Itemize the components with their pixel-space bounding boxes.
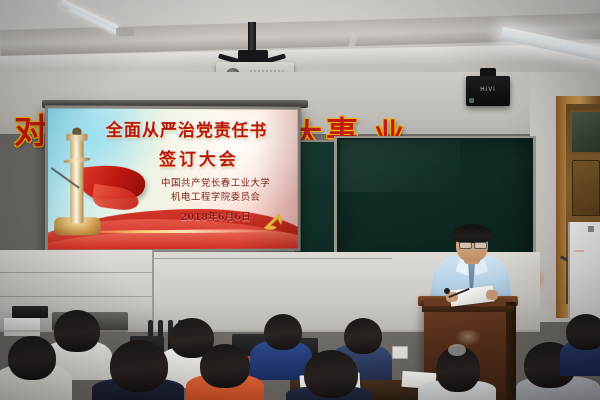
glasses-icon: [474, 242, 487, 249]
attendee-head: [566, 314, 600, 350]
whiteboard-clip: [588, 226, 594, 232]
attendee-head: [110, 340, 168, 392]
attendee-head: [304, 350, 358, 398]
ceiling-vent: [116, 28, 134, 36]
blackboard-glare: [340, 140, 460, 192]
attendee-head: [264, 314, 302, 350]
presenter-hair: [453, 224, 491, 243]
projection-screen: 全面从严治党责任书 签订大会 中国共产党长春工业大学 机电工程学院委员会 201…: [45, 105, 301, 252]
hair-tie-icon: [448, 344, 466, 356]
presentation-slide: 全面从严治党责任书 签订大会 中国共产党长春工业大学 机电工程学院委员会 201…: [48, 108, 298, 249]
slide-org-name: 中国共产党长春工业大学 机电工程学院委员会: [141, 177, 290, 205]
slide-org-line2: 机电工程学院委员会: [141, 191, 290, 205]
door-panel: [572, 160, 600, 216]
wall-banner-char-left: 对: [14, 104, 48, 153]
glasses-icon: [459, 242, 472, 249]
wall-speaker: HiVi: [466, 76, 510, 106]
attendee-head: [54, 310, 100, 352]
attendee-head: [8, 336, 56, 380]
huabiao-beast-icon: [72, 128, 81, 135]
wall-seam: [152, 258, 392, 259]
speaker-led-icon: [469, 98, 474, 103]
attendee-head: [200, 344, 250, 388]
speaker-brand-label: HiVi: [466, 87, 510, 93]
slide-title-line2: 签订大会: [109, 145, 288, 170]
slide-org-line1: 中国共产党长春工业大学: [141, 177, 290, 191]
microphone-icon: [444, 288, 450, 294]
audience-area: [0, 300, 600, 400]
attendee-head: [344, 318, 382, 354]
party-emblem-icon: [262, 211, 286, 235]
cabinet-seam: [0, 296, 152, 297]
slide-title-line1: 全面从严治党责任书: [83, 121, 290, 143]
door-window: [570, 110, 600, 154]
cabinet-seam: [0, 272, 152, 273]
classroom-photo: 对 大 事 业 HiVi: [0, 0, 600, 400]
projector-mount-pole: [248, 22, 256, 52]
whiteboard-mark: [574, 250, 584, 252]
